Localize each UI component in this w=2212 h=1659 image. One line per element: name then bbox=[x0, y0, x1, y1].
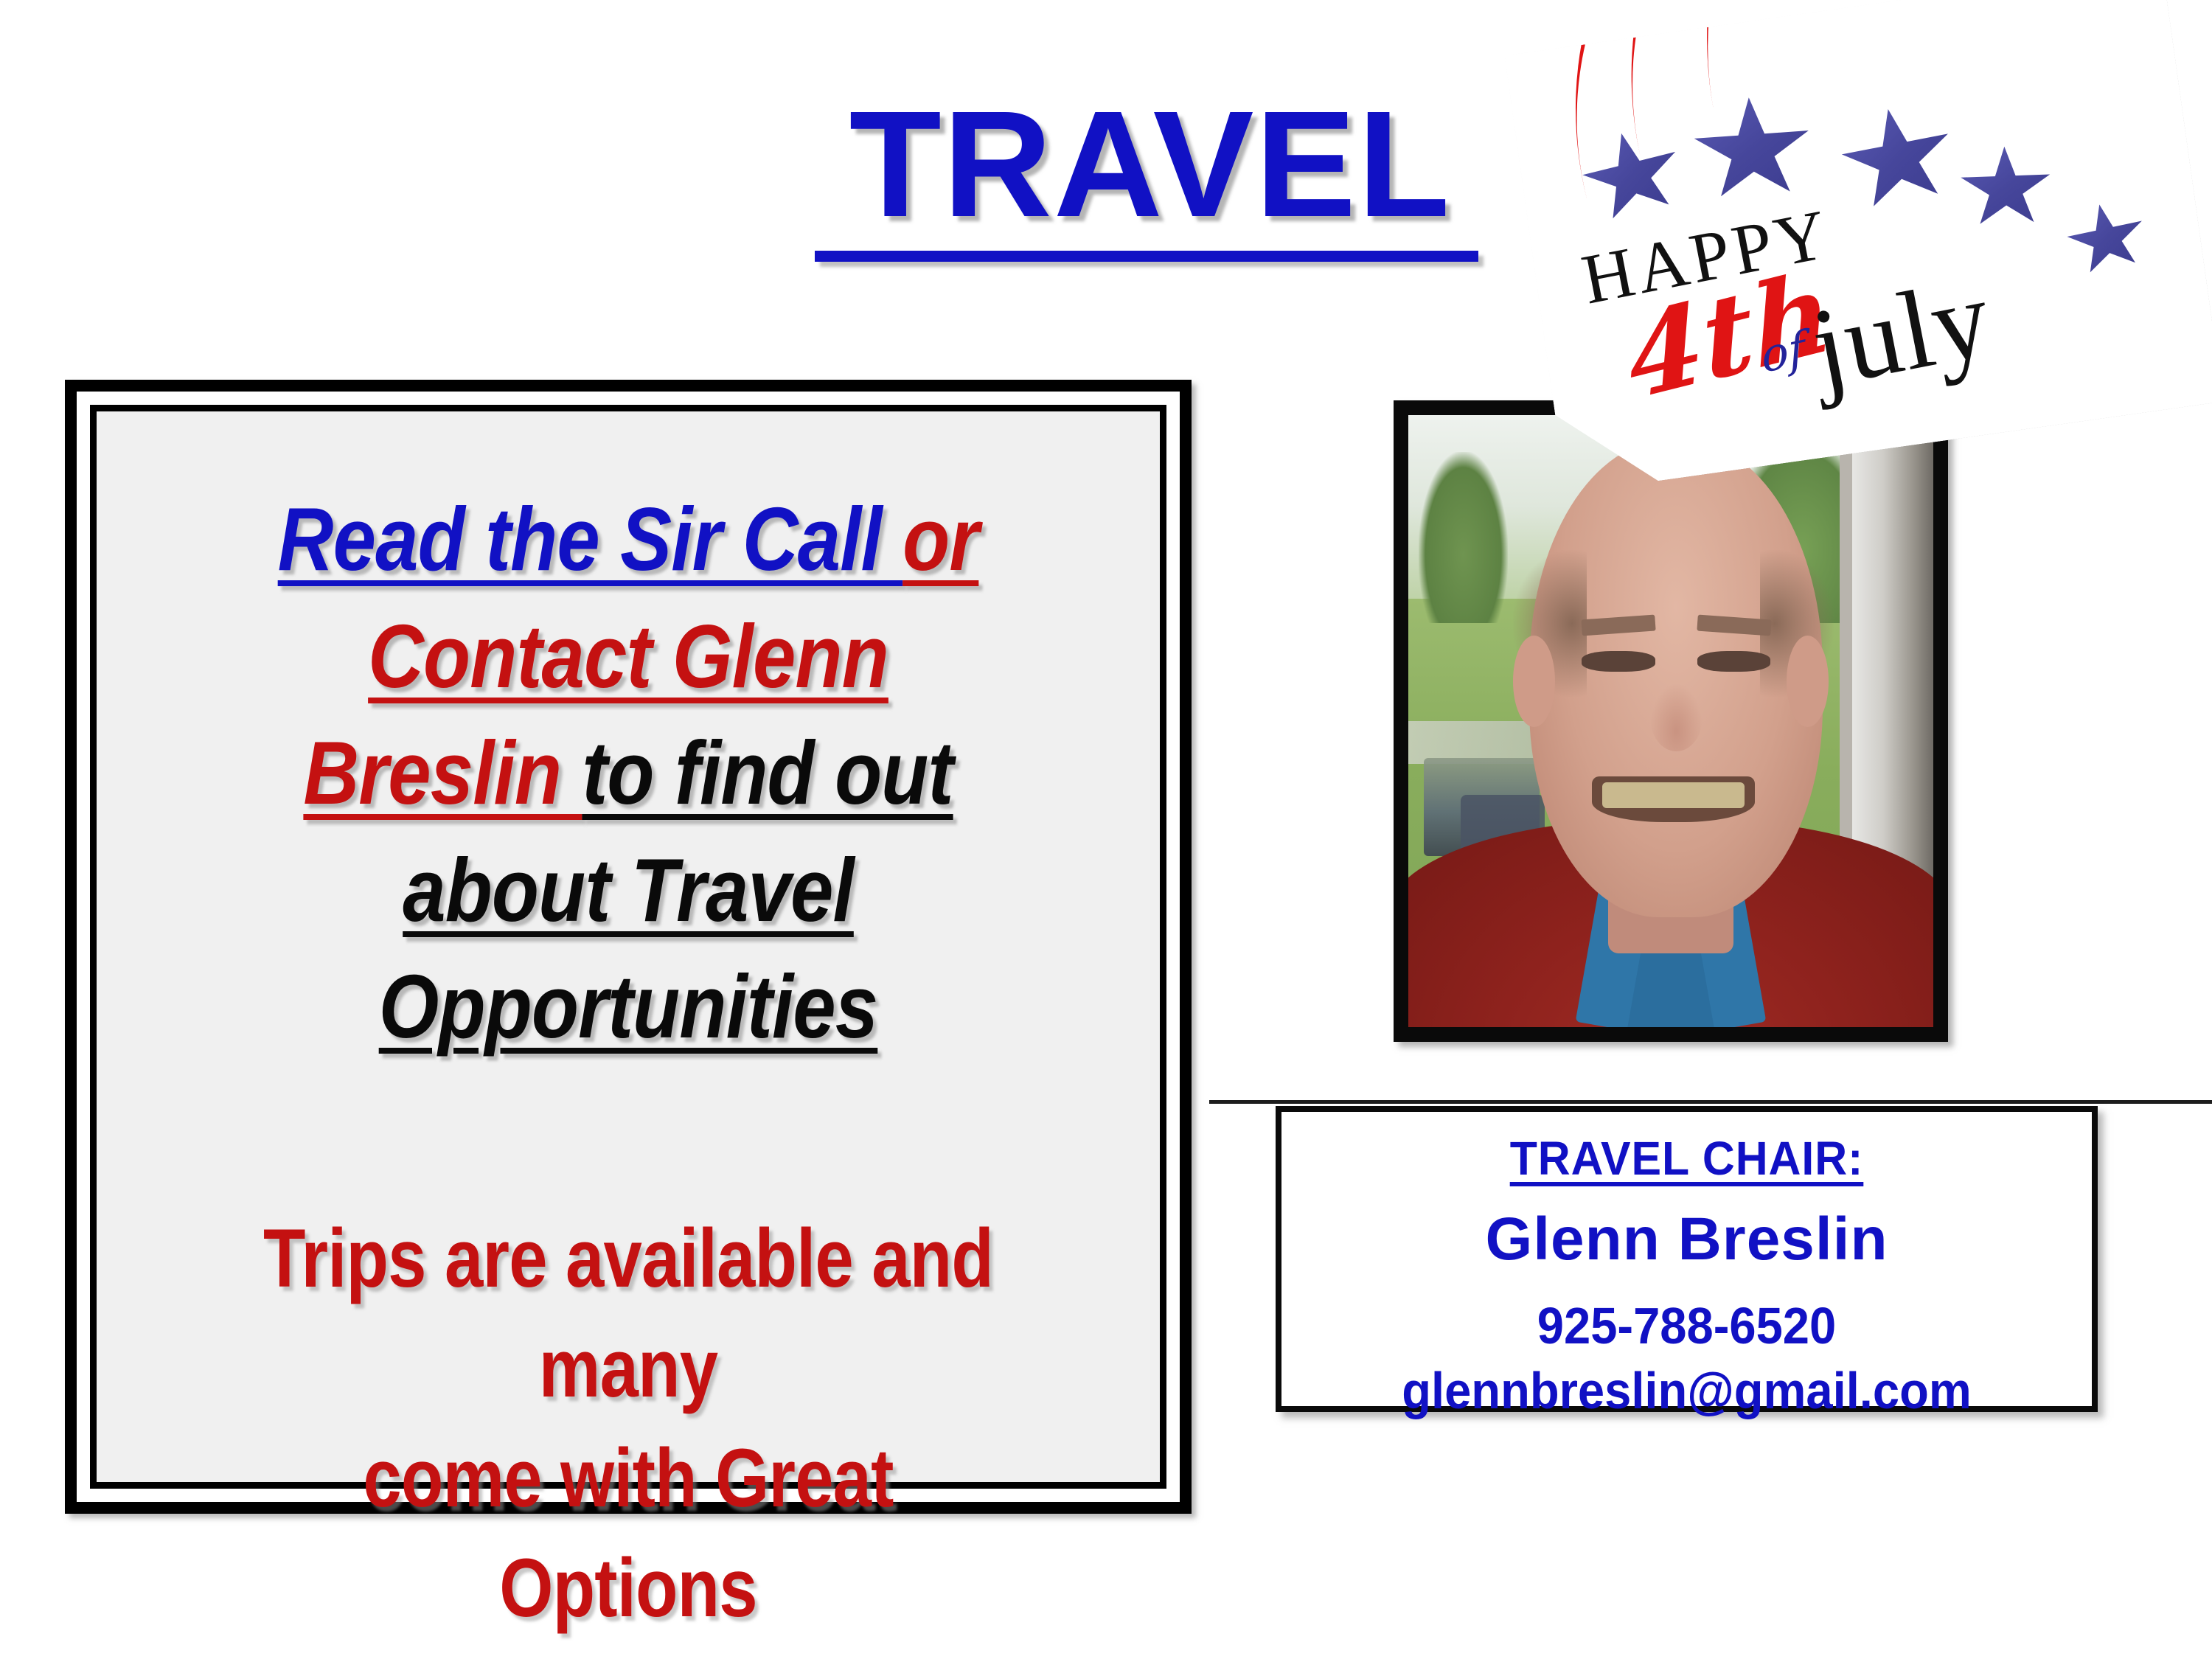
headline-opportunities: Opportunities bbox=[379, 956, 878, 1057]
photo-ear-left bbox=[1513, 636, 1555, 728]
trips-note-line-1: Trips are available and many bbox=[230, 1204, 1026, 1424]
headline-or: or bbox=[902, 489, 978, 589]
headline-read-the-sir-call: Read the Sir Call bbox=[278, 489, 902, 589]
photo-ear-right bbox=[1787, 636, 1829, 728]
chair-photo bbox=[1394, 400, 1948, 1042]
message-panel: Read the Sir Call or Contact Glenn Bresl… bbox=[65, 380, 1192, 1514]
photo-nose bbox=[1650, 684, 1703, 751]
trips-note-line-2: come with Great Options bbox=[230, 1424, 1026, 1644]
travel-chair-label: TRAVEL CHAIR: bbox=[1301, 1131, 2071, 1186]
photo-eye-right bbox=[1697, 651, 1771, 672]
page-title: TRAVEL bbox=[796, 88, 1504, 240]
photo-eye-left bbox=[1582, 651, 1655, 672]
slide-canvas: TRAVEL Read the Sir Call or Contact Glen… bbox=[0, 0, 2212, 1659]
photo-tree-left bbox=[1419, 452, 1508, 623]
travel-chair-name: Glenn Breslin bbox=[1281, 1205, 2092, 1274]
headline-breslin: Breslin bbox=[303, 723, 582, 823]
title-underline-rule bbox=[815, 251, 1478, 262]
message-panel-inner: Read the Sir Call or Contact Glenn Bresl… bbox=[90, 405, 1166, 1489]
headline-about-travel: about Travel bbox=[403, 840, 854, 940]
trips-note: Trips are available and many come with G… bbox=[230, 1204, 1026, 1644]
headline-to-find-out: to find out bbox=[582, 723, 953, 823]
headline-contact-glenn: Contact Glenn bbox=[368, 606, 888, 706]
happy-fourth-of-july-card: HAPPY 4th of july bbox=[1505, 0, 2212, 494]
july-card-of: of bbox=[1759, 321, 1808, 384]
headline-block: Read the Sir Call or Contact Glenn Bresl… bbox=[220, 481, 1036, 1065]
horizontal-divider-rule bbox=[1209, 1100, 2212, 1104]
july-card-face: HAPPY 4th of july bbox=[1505, 0, 2212, 494]
chair-photo-image bbox=[1408, 415, 1933, 1027]
photo-teeth bbox=[1602, 782, 1744, 808]
travel-chair-contact-box: TRAVEL CHAIR: Glenn Breslin 925-788-6520… bbox=[1276, 1106, 2098, 1412]
travel-chair-phone[interactable]: 925-788-6520 bbox=[1310, 1296, 2063, 1355]
travel-chair-email[interactable]: glennbreslin@gmail.com bbox=[1310, 1361, 2063, 1420]
